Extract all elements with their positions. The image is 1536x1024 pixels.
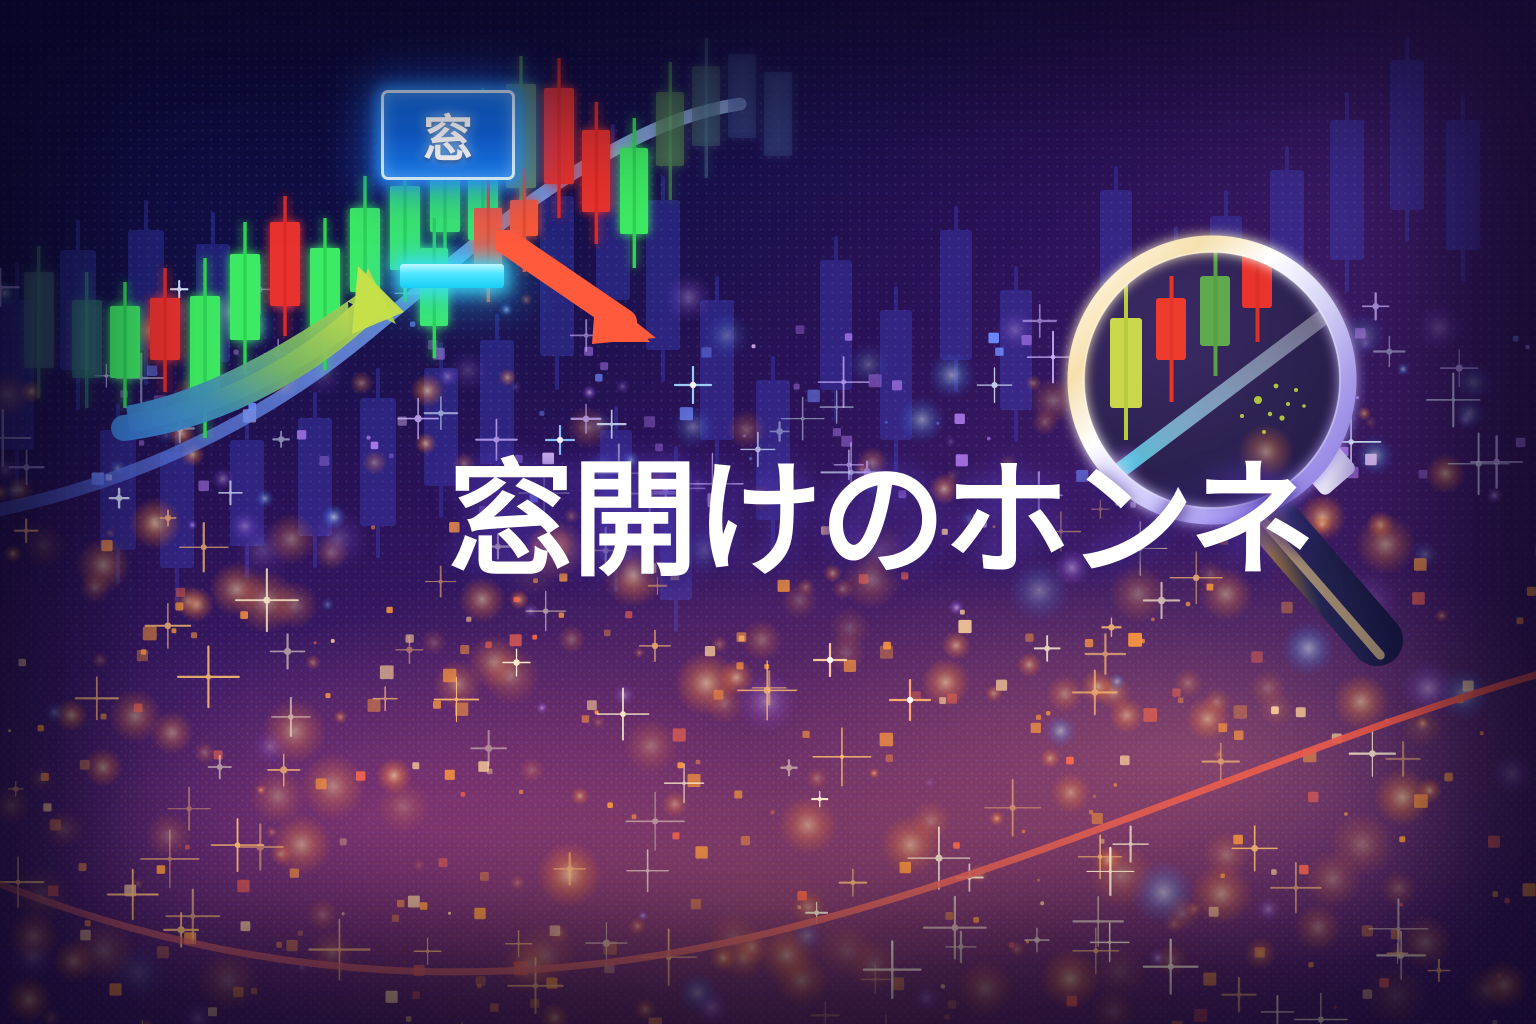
vignette-overlay <box>0 0 1536 1024</box>
banner-canvas: 窓 <box>0 0 1536 1024</box>
